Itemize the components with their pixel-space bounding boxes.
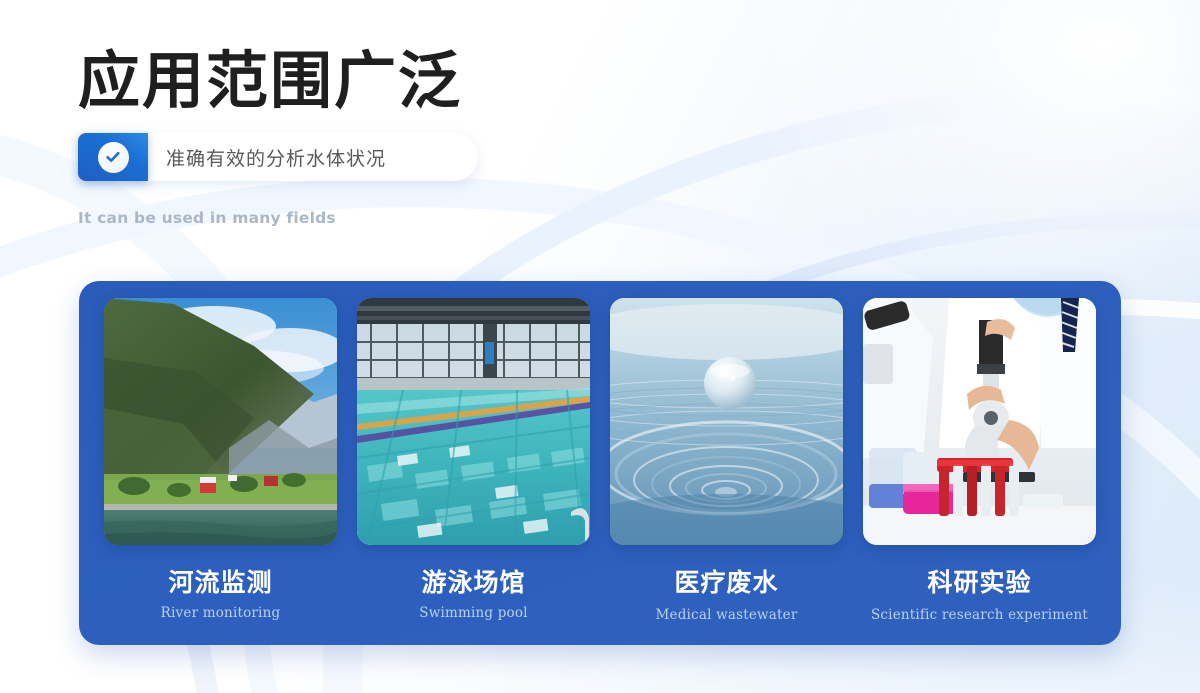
card-subtitle: Swimming pool xyxy=(419,605,527,621)
card-title: 科研实验 xyxy=(927,569,1031,597)
card-subtitle: Medical wastewater xyxy=(655,607,797,623)
card-title: 医疗废水 xyxy=(674,569,778,597)
card-subtitle: Scientific research experiment xyxy=(871,607,1088,623)
check-circle-icon xyxy=(98,142,129,173)
page-title: 应用范围广泛 xyxy=(78,44,478,118)
application-card[interactable]: 河流监测 River monitoring xyxy=(104,298,337,623)
application-card-list: 河流监测 River monitoring xyxy=(104,298,1096,623)
laboratory-microscope-photo xyxy=(863,298,1096,545)
indoor-swimming-pool-photo xyxy=(357,298,590,545)
card-title: 河流监测 xyxy=(168,569,272,597)
application-card[interactable]: 医疗废水 Medical wastewater xyxy=(610,298,843,623)
applications-panel: 河流监测 River monitoring xyxy=(79,281,1121,645)
card-subtitle: River monitoring xyxy=(161,605,281,621)
river-valley-photo xyxy=(104,298,337,545)
header-subtitle: It can be used in many fields xyxy=(78,209,478,227)
badge-text: 准确有效的分析水体状况 xyxy=(166,133,386,181)
water-droplet-ripple-photo xyxy=(610,298,843,545)
application-card[interactable]: 游泳场馆 Swimming pool xyxy=(357,298,590,623)
application-card[interactable]: 科研实验 Scientific research experiment xyxy=(863,298,1096,623)
page-root: 应用范围广泛 准确有效的分析水体状况 It can be used in man… xyxy=(0,0,1200,693)
badge-icon-box xyxy=(78,133,148,181)
card-title: 游泳场馆 xyxy=(421,569,525,597)
badge-row: 准确有效的分析水体状况 xyxy=(78,133,478,181)
header-block: 应用范围广泛 准确有效的分析水体状况 It can be used in man… xyxy=(78,44,478,227)
